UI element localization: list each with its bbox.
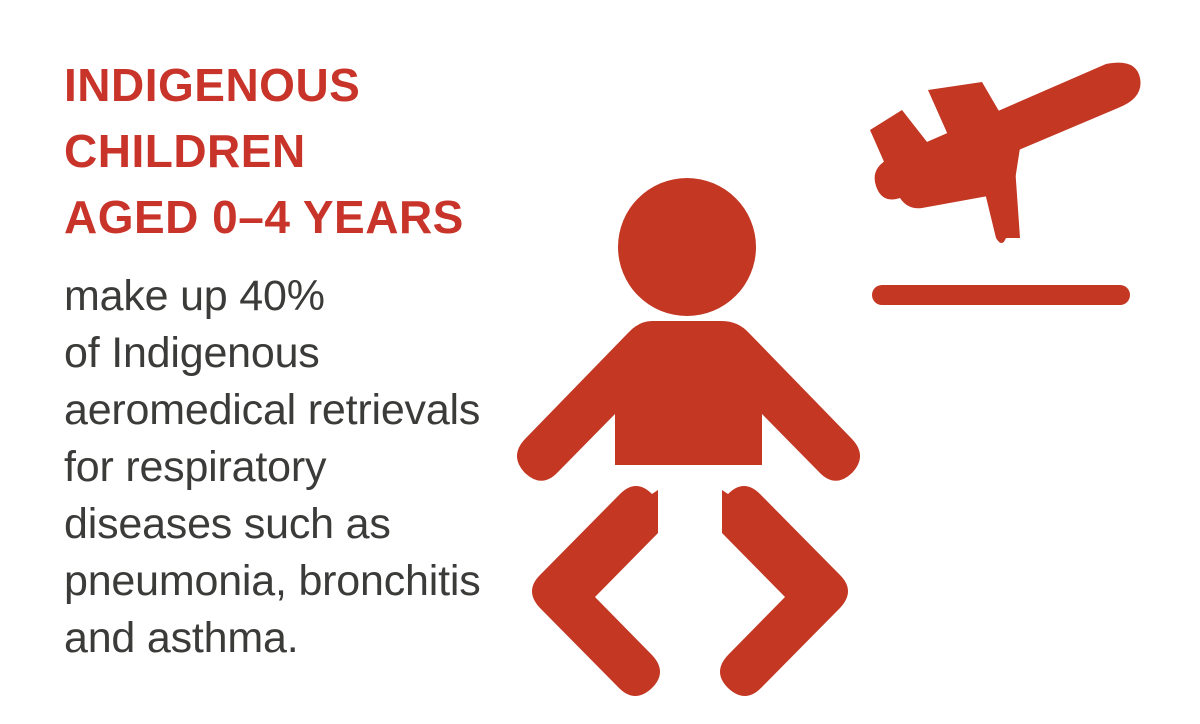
- text-block: INDIGENOUS CHILDREN AGED 0–4 YEARS make …: [64, 52, 534, 667]
- body-line-4: for respiratory: [64, 439, 534, 496]
- infographic-canvas: INDIGENOUS CHILDREN AGED 0–4 YEARS make …: [0, 0, 1200, 724]
- body-line-1: make up 40%: [64, 268, 534, 325]
- plane-ground-line-shape: [872, 285, 1130, 305]
- body-line-5: diseases such as: [64, 496, 534, 553]
- baby-figure-icon: [500, 165, 880, 675]
- headline-line-1: INDIGENOUS: [64, 52, 534, 118]
- baby-head-shape: [618, 178, 756, 316]
- baby-torso-arms-shape: [517, 321, 860, 481]
- body-line-6: pneumonia, bronchitis: [64, 553, 534, 610]
- baby-left-leg-shape: [532, 486, 660, 696]
- body-line-7: and asthma.: [64, 610, 534, 667]
- headline-line-2: CHILDREN: [64, 118, 534, 184]
- headline-line-3: AGED 0–4 YEARS: [64, 184, 534, 250]
- page-title: INDIGENOUS CHILDREN AGED 0–4 YEARS: [64, 52, 534, 250]
- baby-right-leg-shape: [720, 486, 848, 696]
- body-line-3: aeromedical retrievals: [64, 382, 534, 439]
- body-line-2: of Indigenous: [64, 325, 534, 382]
- body-copy: make up 40% of Indigenous aeromedical re…: [64, 268, 534, 667]
- airplane-departure-icon: [860, 52, 1150, 317]
